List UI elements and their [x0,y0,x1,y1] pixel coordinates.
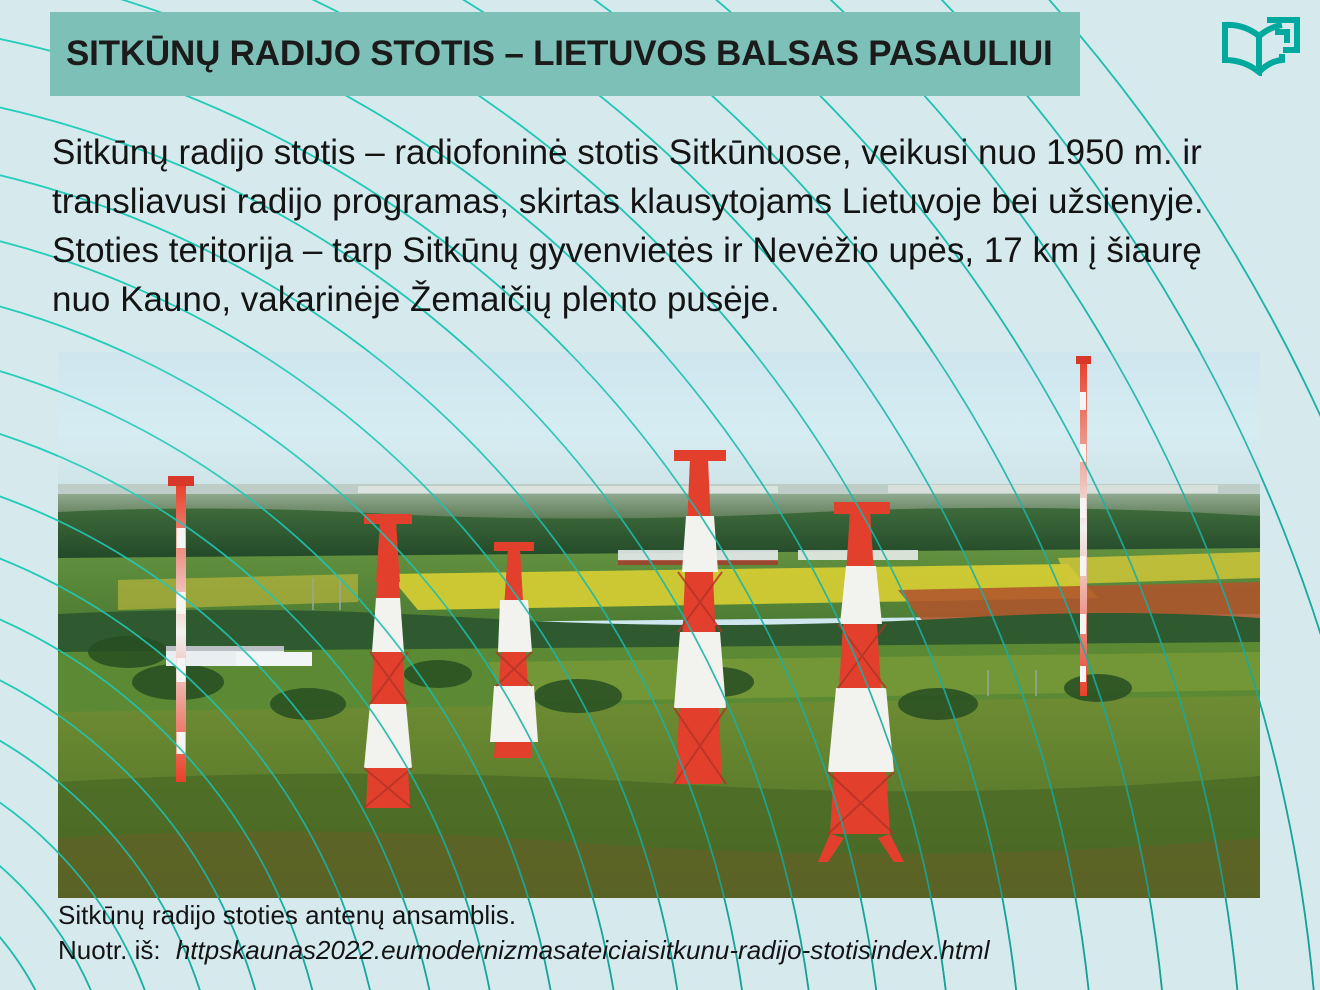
photo-illustration [58,352,1260,898]
open-book-logo-icon [1220,10,1302,76]
photo-radio-station [58,352,1260,898]
page-title: SITKŪNŲ RADIJO STOTIS – LIETUVOS BALSAS … [50,34,1053,74]
photo-credit: Nuotr. iš: httpskaunas2022.eumodernizmas… [58,932,1258,968]
header-band: SITKŪNŲ RADIJO STOTIS – LIETUVOS BALSAS … [50,12,1080,96]
body-line-1: Sitkūnų radijo stotis – radiofoninė stot… [52,128,1282,177]
photo-caption-block: Sitkūnų radijo stoties antenų ansamblis.… [58,898,1258,968]
body-line-2: transliavusi radijo programas, skirtas k… [52,177,1282,226]
body-line-4: nuo Kauno, vakarinėje Žemaičių plento pu… [52,275,1282,324]
body-line-3: Stoties teritorija – tarp Sitkūnų gyvenv… [52,226,1282,275]
photo-credit-label: Nuotr. iš: [58,935,161,965]
body-paragraph: Sitkūnų radijo stotis – radiofoninė stot… [52,128,1282,324]
photo-credit-url: httpskaunas2022.eumodernizmasateiciaisit… [168,935,990,965]
photo-caption: Sitkūnų radijo stoties antenų ansamblis. [58,898,1258,932]
